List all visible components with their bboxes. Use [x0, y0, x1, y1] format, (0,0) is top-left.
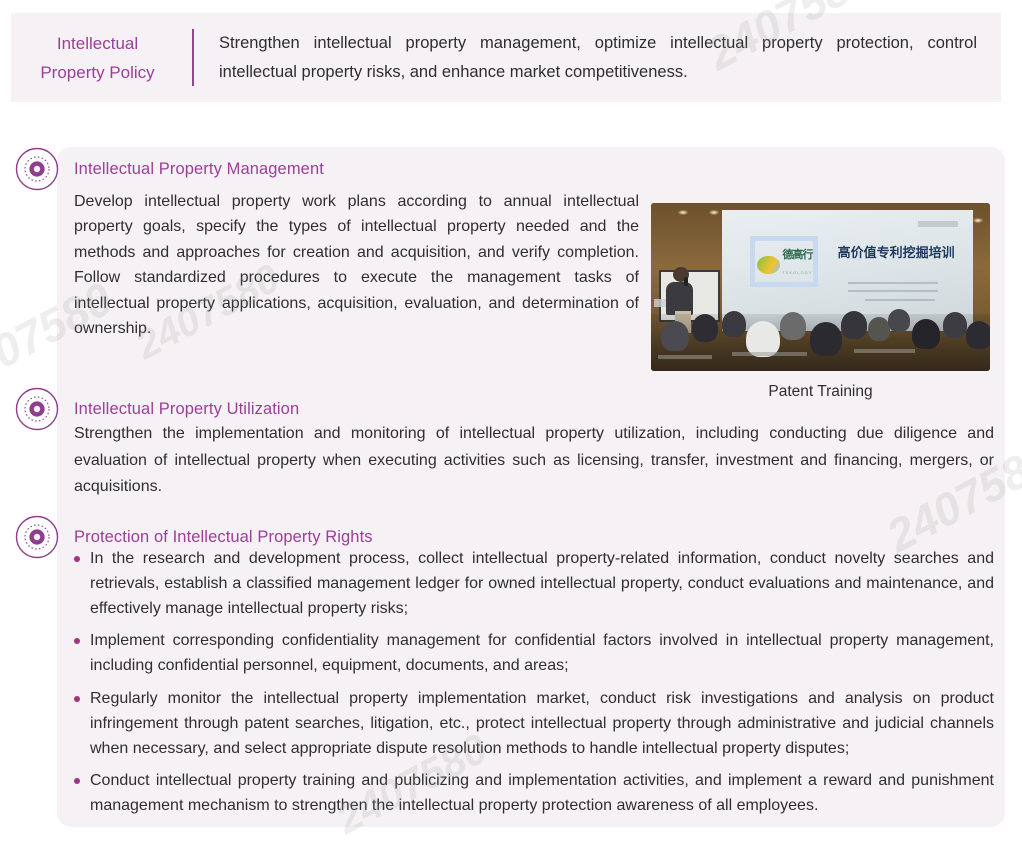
section-title: Intellectual Property Management	[74, 155, 324, 183]
list-item: Regularly monitor the intellectual prope…	[74, 687, 994, 761]
list-item: Implement corresponding confidentiality …	[74, 629, 994, 679]
slide-title-cn: 高价值专利挖掘培训	[838, 242, 955, 261]
target-circle-icon	[15, 387, 59, 431]
policy-label: Intellectual Property Policy	[11, 29, 192, 87]
list-item-text: Implement corresponding confidentiality …	[90, 632, 994, 674]
bullet-dot-icon	[74, 556, 80, 562]
target-circle-icon	[15, 515, 59, 559]
section-body: Strengthen the implementation and monito…	[74, 421, 994, 501]
bullet-dot-icon	[74, 696, 80, 702]
list-item-text: Conduct intellectual property training a…	[90, 772, 994, 814]
slide-logo-latin: TEKOLOGY	[782, 270, 812, 275]
policy-statement: Strengthen intellectual property managem…	[194, 29, 1001, 87]
policy-label-line1: Intellectual	[11, 29, 184, 58]
list-item: Conduct intellectual property training a…	[74, 769, 994, 819]
policy-label-line2: Property Policy	[11, 58, 184, 87]
section-intellectual-property-utilization: Intellectual Property Utilization Streng…	[0, 387, 1022, 515]
section-body: Develop intellectual property work plans…	[74, 183, 639, 341]
section-protection-of-intellectual-property-rights: Protection of Intellectual Property Righ…	[0, 515, 1022, 827]
list-item-text: In the research and development process,…	[90, 550, 994, 617]
section-title: Intellectual Property Utilization	[74, 395, 299, 423]
target-circle-icon	[15, 147, 59, 191]
slide-logo-cn: 德高行	[782, 246, 812, 262]
list-item-text: Regularly monitor the intellectual prope…	[90, 690, 994, 757]
photo-block: 德高行 TEKOLOGY 高价值专利挖掘培训	[651, 203, 990, 401]
protection-bullet-list: In the research and development process,…	[74, 547, 994, 819]
policy-header-bar: Intellectual Property Policy Strengthen …	[11, 13, 1001, 102]
section-intellectual-property-management: Intellectual Property Management Develop…	[0, 147, 1022, 387]
list-item: In the research and development process,…	[74, 547, 994, 621]
bullet-dot-icon	[74, 778, 80, 784]
bullet-dot-icon	[74, 638, 80, 644]
patent-training-photo: 德高行 TEKOLOGY 高价值专利挖掘培训	[651, 203, 990, 371]
